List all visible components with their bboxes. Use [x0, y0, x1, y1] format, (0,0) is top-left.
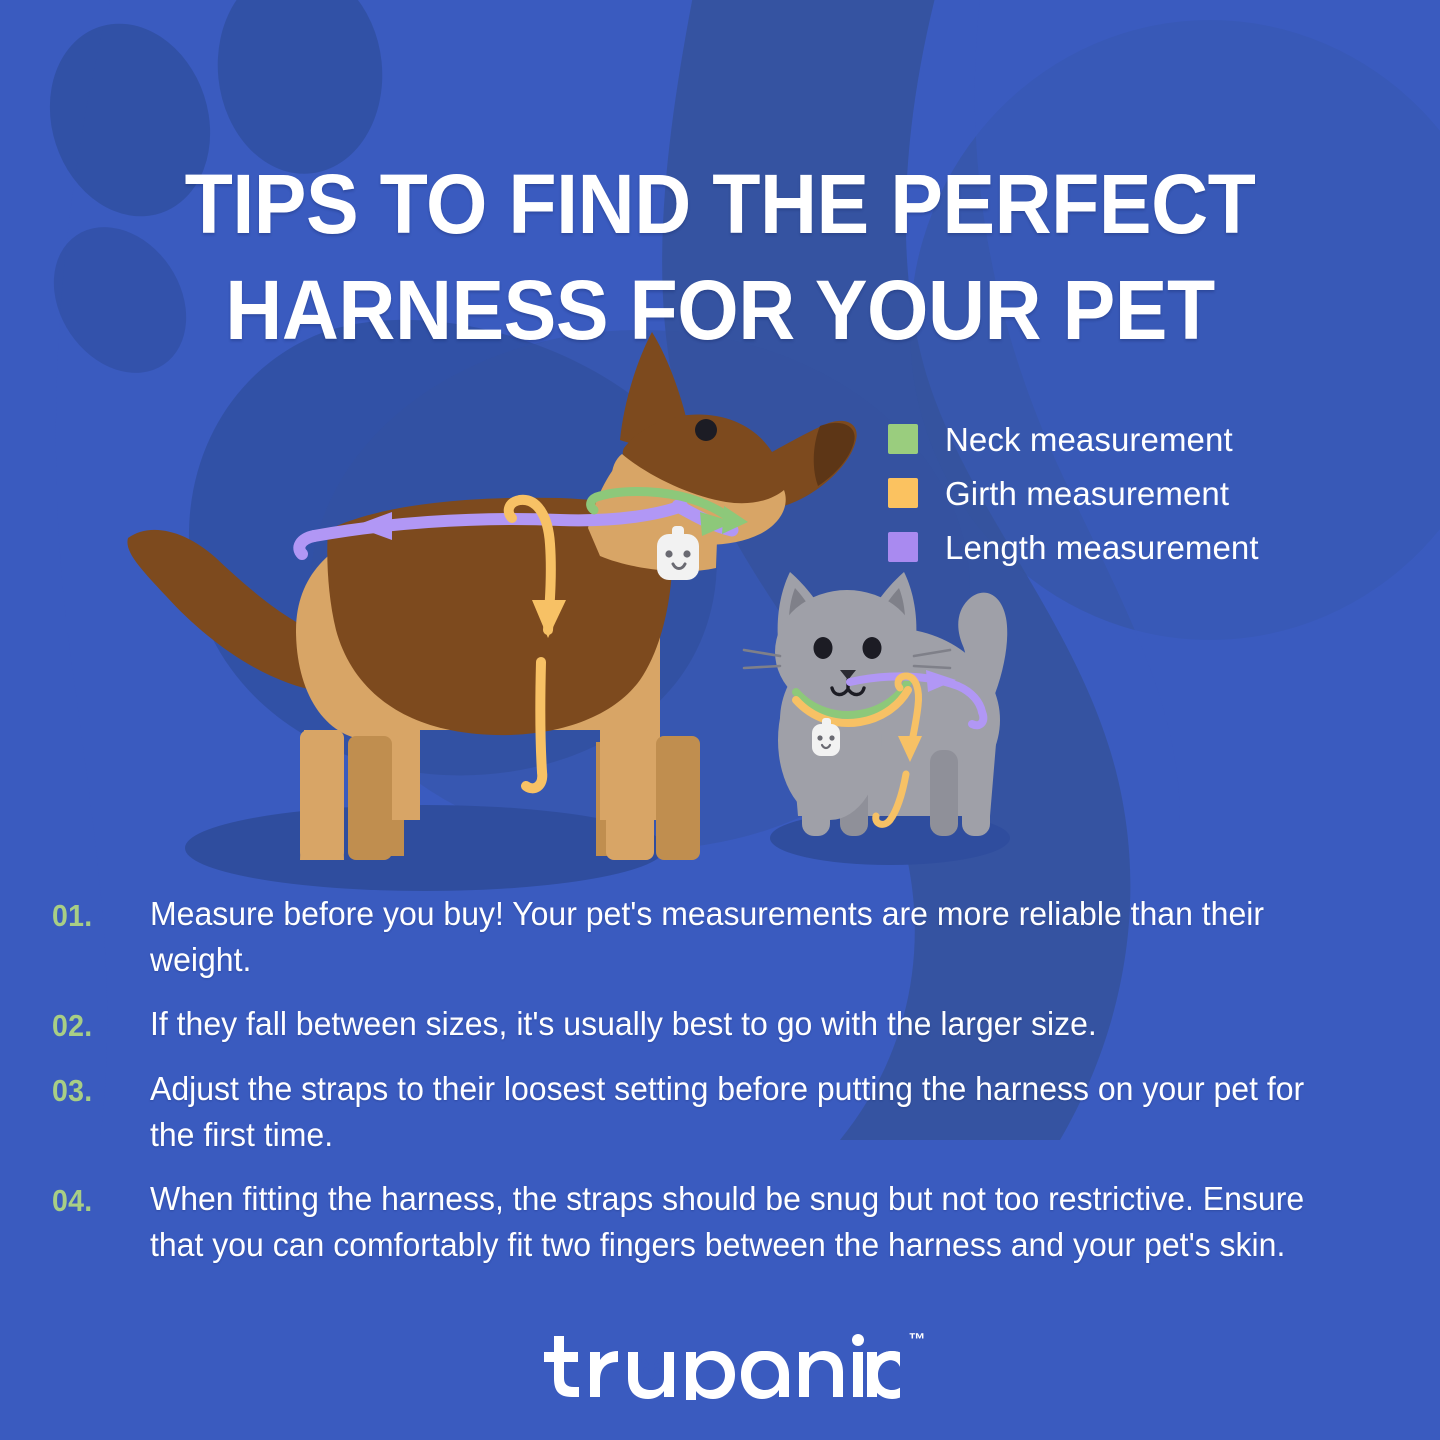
dog-eye	[695, 419, 717, 441]
dog-snout-tip	[814, 423, 855, 486]
infographic-canvas: TIPS TO FIND THE PERFECT HARNESS FOR YOU…	[0, 0, 1440, 1440]
tip-text-03: Adjust the straps to their loosest setti…	[150, 1067, 1336, 1159]
dog-girth-arrow-bottom-hook	[526, 772, 542, 788]
dog-hind-leg-2	[348, 736, 392, 860]
legend-label-neck: Neck measurement	[945, 423, 1233, 456]
legend-label-girth: Girth measurement	[945, 477, 1229, 510]
dog-front-leg-2	[656, 736, 700, 860]
cat-leg-back-right	[962, 750, 990, 836]
dog-hind-leg	[300, 730, 344, 860]
dog-front-leg	[606, 730, 654, 860]
tip-number-04: 04.	[52, 1177, 142, 1224]
measurement-legend: Neck measurement Girth measurement Lengt…	[888, 412, 1358, 574]
tip-item-01: 01. Measure before you buy! Your pet's m…	[52, 892, 1392, 984]
tip-number-03: 03.	[52, 1067, 142, 1114]
legend-label-length: Length measurement	[945, 531, 1259, 564]
legend-item-neck: Neck measurement	[888, 412, 1358, 466]
logo-wordmark-wrap: ™	[540, 1326, 900, 1405]
page-title-line-1: TIPS TO FIND THE PERFECT	[109, 152, 1331, 258]
brand-logo: ™	[0, 1326, 1440, 1405]
legend-item-length: Length measurement	[888, 520, 1358, 574]
trupanion-wordmark-svg	[540, 1326, 900, 1400]
dog-illustration	[127, 332, 856, 860]
tip-number-02: 02.	[52, 1002, 142, 1049]
cat-girth-arrow-bottom-hook	[876, 816, 890, 824]
dog-girth-arrow-lower	[540, 662, 542, 772]
tip-item-03: 03. Adjust the straps to their loosest s…	[52, 1067, 1392, 1159]
pet-face-icon	[641, 1358, 662, 1386]
square-swatch-orange-icon	[888, 478, 918, 508]
tip-text-04: When fitting the harness, the straps sho…	[150, 1177, 1336, 1269]
tip-item-04: 04. When fitting the harness, the straps…	[52, 1177, 1392, 1269]
cat-eye-right	[863, 637, 882, 659]
dog-length-arrow-hook	[299, 536, 314, 554]
tip-text-02: If they fall between sizes, it's usually…	[150, 1002, 1336, 1048]
trademark-symbol: ™	[909, 1330, 927, 1350]
square-swatch-green-icon	[888, 424, 918, 454]
tip-number-01: 01.	[52, 892, 142, 939]
pets-svg	[0, 300, 1440, 900]
pet-measurement-illustration	[0, 300, 1440, 900]
cat-illustration	[744, 572, 1007, 836]
tips-list: 01. Measure before you buy! Your pet's m…	[52, 892, 1392, 1287]
tip-item-02: 02. If they fall between sizes, it's usu…	[52, 1002, 1392, 1049]
square-swatch-purple-icon	[888, 532, 918, 562]
cat-eye-left	[814, 637, 833, 659]
tip-text-01: Measure before you buy! Your pet's measu…	[150, 892, 1336, 984]
cat-leg-back-left	[930, 750, 958, 836]
legend-item-girth: Girth measurement	[888, 466, 1358, 520]
